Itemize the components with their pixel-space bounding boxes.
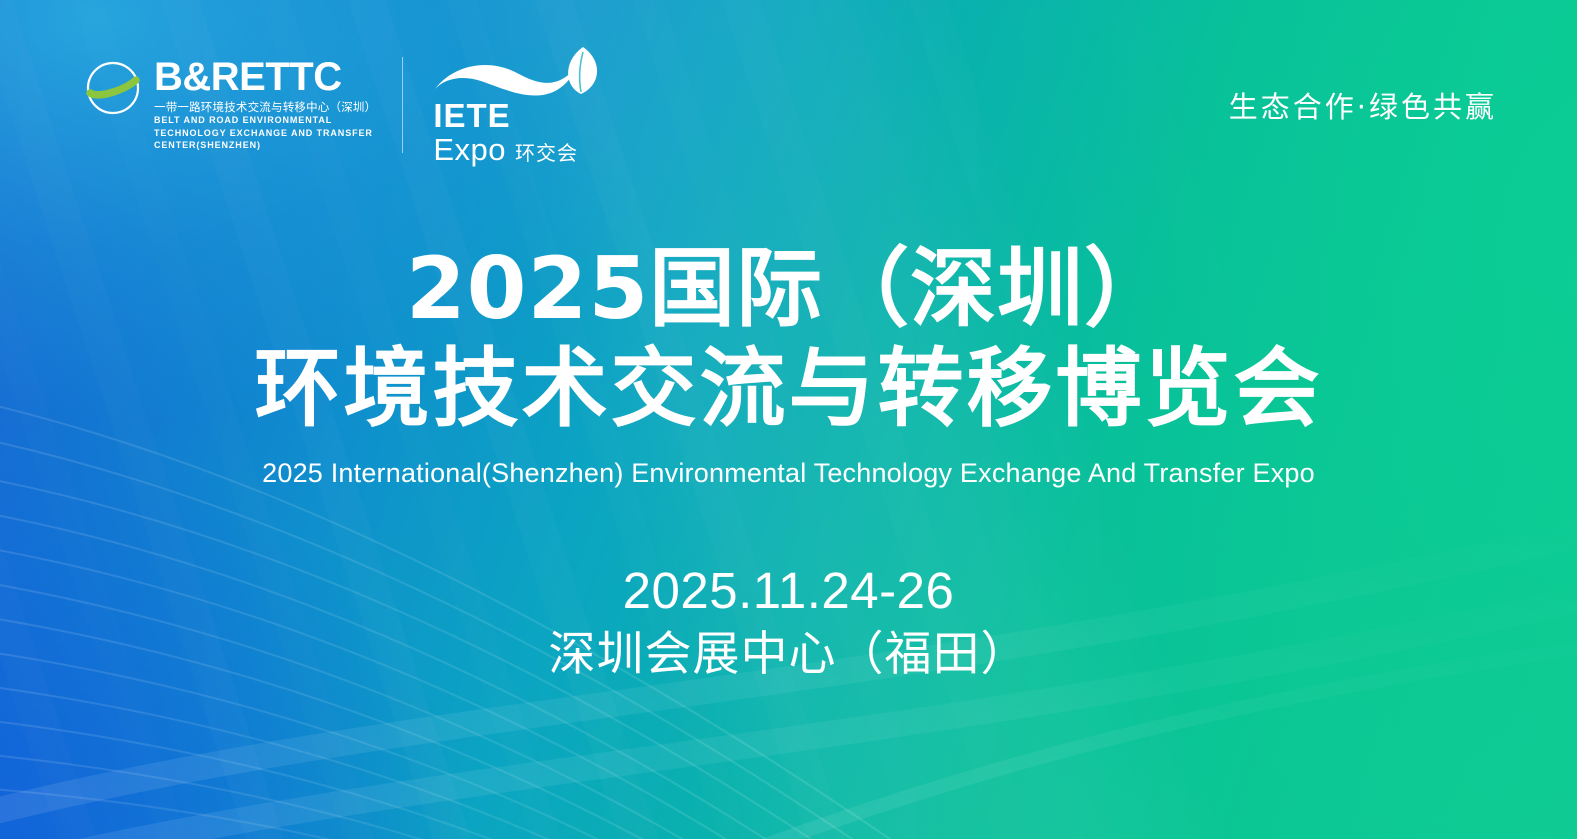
- globe-circle-icon: [84, 59, 142, 122]
- iete-expo-logo[interactable]: IETE Expo 环交会: [403, 50, 603, 160]
- event-title-line-1: 2025国际（深圳）: [0, 240, 1577, 338]
- brettc-text-block: B&RETTC 一带一路环境技术交流与转移中心（深圳） BELT AND ROA…: [154, 57, 376, 152]
- brettc-english-line-3: CENTER(SHENZHEN): [154, 140, 376, 152]
- iete-expo-word: Expo: [433, 133, 506, 166]
- banner-header: B&RETTC 一带一路环境技术交流与转移中心（深圳） BELT AND ROA…: [0, 0, 1577, 210]
- event-slogan: 生态合作·绿色共赢: [1229, 84, 1525, 126]
- brettc-english-line-1: BELT AND ROAD ENVIRONMENTAL: [154, 115, 376, 127]
- iete-subtitle-row: Expo 环交会: [433, 133, 603, 166]
- brettc-chinese-name: 一带一路环境技术交流与转移中心（深圳）: [154, 100, 376, 114]
- event-title-line-2: 环境技术交流与转移博览会: [0, 338, 1577, 440]
- wave-leaf-icon: [433, 45, 603, 101]
- event-venue: 深圳会展中心（福田）: [0, 626, 1577, 684]
- brettc-logo[interactable]: B&RETTC 一带一路环境技术交流与转移中心（深圳） BELT AND ROA…: [84, 57, 403, 153]
- event-date: 2025.11.24-26: [0, 562, 1577, 620]
- logo-group: B&RETTC 一带一路环境技术交流与转移中心（深圳） BELT AND ROA…: [84, 50, 603, 160]
- iete-wordmark-row: IETE: [433, 99, 603, 132]
- event-banner: B&RETTC 一带一路环境技术交流与转移中心（深圳） BELT AND ROA…: [0, 0, 1577, 839]
- banner-main-content: 2025国际（深圳） 环境技术交流与转移博览会 2025 Internation…: [0, 240, 1577, 684]
- iete-wordmark: IETE: [433, 99, 510, 132]
- brettc-english-line-2: TECHNOLOGY EXCHANGE AND TRANSFER: [154, 128, 376, 140]
- brettc-wordmark: B&RETTC: [154, 57, 376, 97]
- iete-chinese-name: 环交会: [515, 137, 578, 166]
- event-title-english: 2025 International(Shenzhen) Environment…: [0, 456, 1577, 490]
